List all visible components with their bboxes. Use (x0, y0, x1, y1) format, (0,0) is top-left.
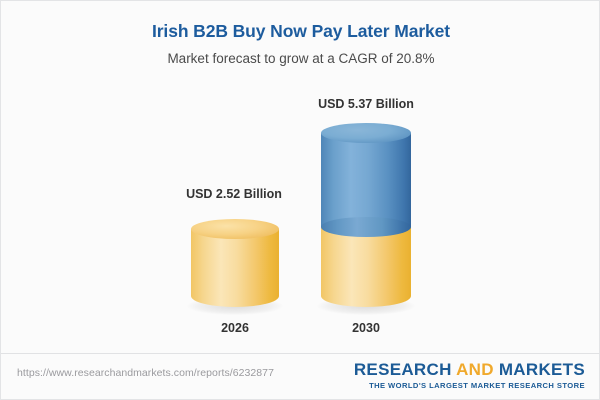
brand-logo-tagline: THE WORLD'S LARGEST MARKET RESEARCH STOR… (354, 380, 585, 391)
brand-logo-and: AND (456, 360, 494, 379)
cylinder-2030 (321, 123, 411, 307)
cylinder-2026 (191, 219, 279, 307)
cylinder-segment-seam-2030 (321, 217, 411, 237)
bar-category-label-2030: 2030 (266, 321, 466, 335)
bar-value-label-2026: USD 2.52 Billion (134, 187, 334, 201)
chart-plot-area: USD 2.52 Billion 2026 USD 5.37 Billion (1, 1, 600, 353)
brand-logo-markets: MARKETS (499, 360, 585, 379)
cylinder-top-2026 (191, 219, 279, 239)
cylinder-top-2030 (321, 123, 411, 143)
bar-value-label-2030: USD 5.37 Billion (266, 97, 466, 111)
footer-divider (1, 353, 600, 354)
cylinder-body-2026 (191, 229, 279, 307)
cylinder-segment-growth-2030 (321, 133, 411, 227)
brand-logo-wordmark: RESEARCH AND MARKETS (354, 360, 585, 379)
brand-logo[interactable]: RESEARCH AND MARKETS THE WORLD'S LARGEST… (354, 360, 585, 391)
chart-canvas: Irish B2B Buy Now Pay Later Market Marke… (0, 0, 600, 400)
brand-logo-research: RESEARCH (354, 360, 452, 379)
report-url[interactable]: https://www.researchandmarkets.com/repor… (17, 367, 274, 379)
